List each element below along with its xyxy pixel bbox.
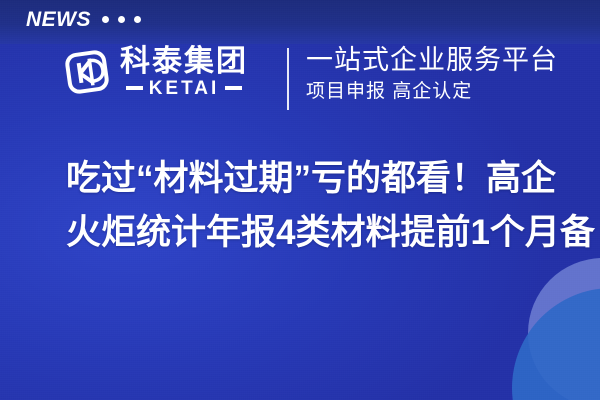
news-strip: NEWS (26, 9, 141, 30)
ketai-diamond-kt-monogram-icon (62, 44, 112, 100)
vertical-divider (287, 48, 289, 110)
news-dot-icon (134, 16, 141, 23)
brand-name-en: KETAI (149, 79, 220, 98)
brand-wordmark: 科泰集团 KETAI (120, 46, 248, 98)
dash-right-icon (225, 86, 242, 90)
news-label: NEWS (26, 9, 91, 30)
headline-block: 吃过“材料过期”亏的都看！高企 火炬统计年报4类材料提前1个月备 (66, 152, 586, 261)
brand-name-cn: 科泰集团 (120, 46, 248, 78)
news-dots (102, 16, 141, 23)
dash-left-icon (126, 86, 143, 90)
news-banner: NEWS 科泰集团 KETAI (0, 0, 600, 400)
tagline-block: 一站式企业服务平台 项目申报 高企认定 (306, 45, 558, 105)
news-dot-icon (102, 16, 109, 23)
headline-line-1: 吃过“材料过期”亏的都看！高企 (66, 152, 586, 206)
tagline-sub: 项目申报 高企认定 (306, 80, 558, 105)
brand-name-en-row: KETAI (126, 79, 243, 98)
headline-line-2: 火炬统计年报4类材料提前1个月备 (66, 206, 586, 260)
tagline-main: 一站式企业服务平台 (306, 45, 558, 77)
news-dot-icon (118, 16, 125, 23)
brand-logo-lockup: 科泰集团 KETAI (62, 44, 248, 100)
